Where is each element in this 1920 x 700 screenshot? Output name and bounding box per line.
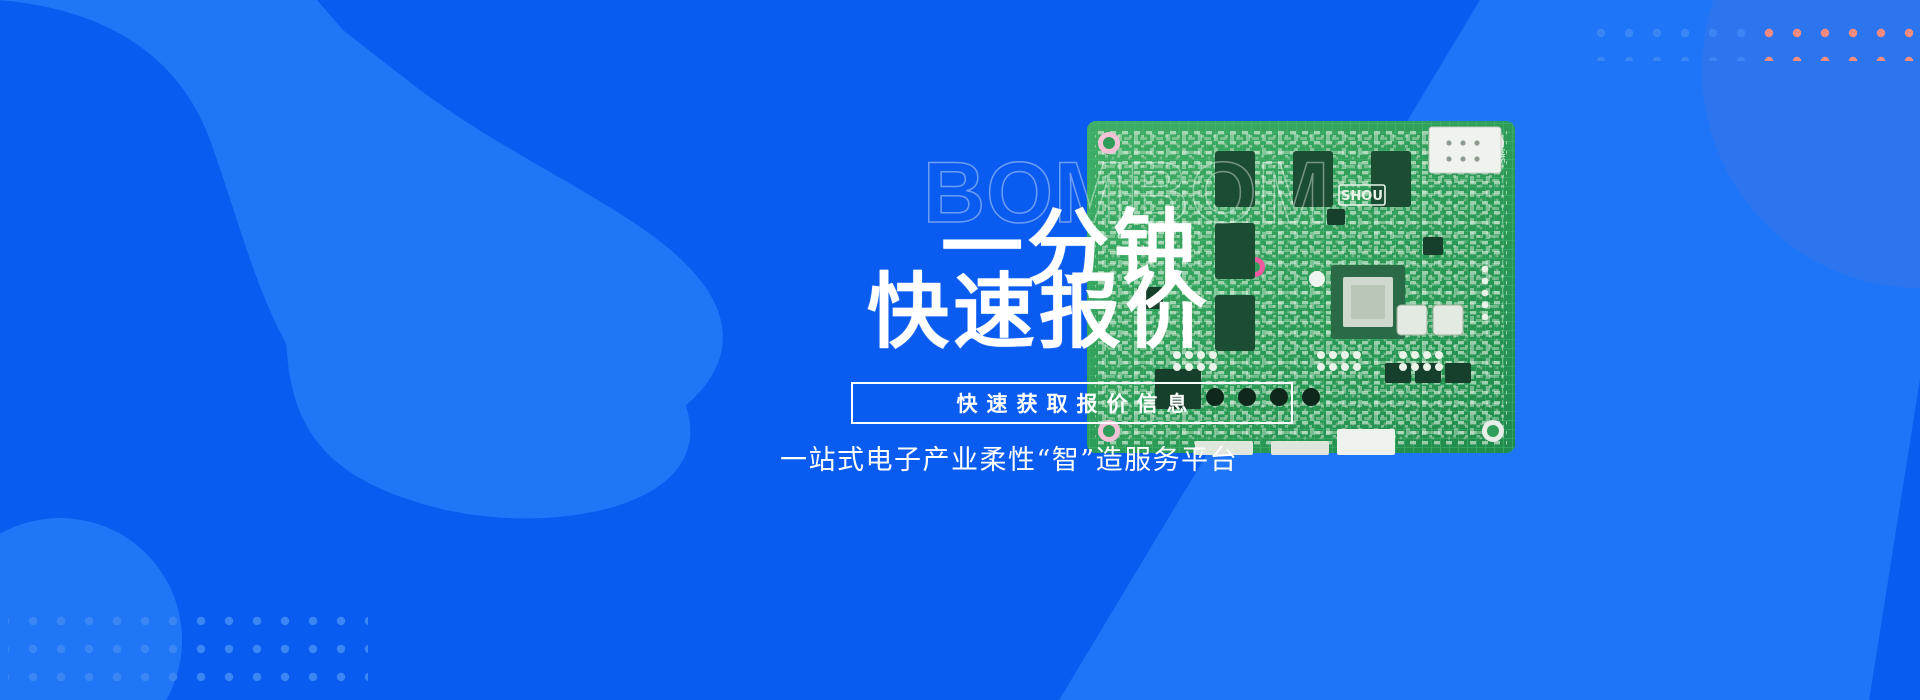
- cta-label: 快速获取报价信息: [948, 388, 1197, 418]
- dot-grid-top-right-orange: [1752, 25, 1920, 61]
- promo-banner: SIM SHOU: [0, 0, 1920, 700]
- dot-grid-bottom-left-lower: [8, 652, 368, 688]
- hero-text-block: BOMBOM 一分钟 快速报价 快速获取报价信息 一站式电子产业柔性“智”造服务…: [845, 150, 1455, 510]
- headline-line-2: 快速报价: [867, 272, 1211, 354]
- hero-subtitle: 一站式电子产业柔性“智”造服务平台: [780, 438, 1390, 477]
- pcb-sim-label: SIM: [1498, 149, 1507, 163]
- cta-button[interactable]: 快速获取报价信息: [851, 382, 1293, 424]
- dot-grid-bottom-left-upper: [8, 616, 368, 652]
